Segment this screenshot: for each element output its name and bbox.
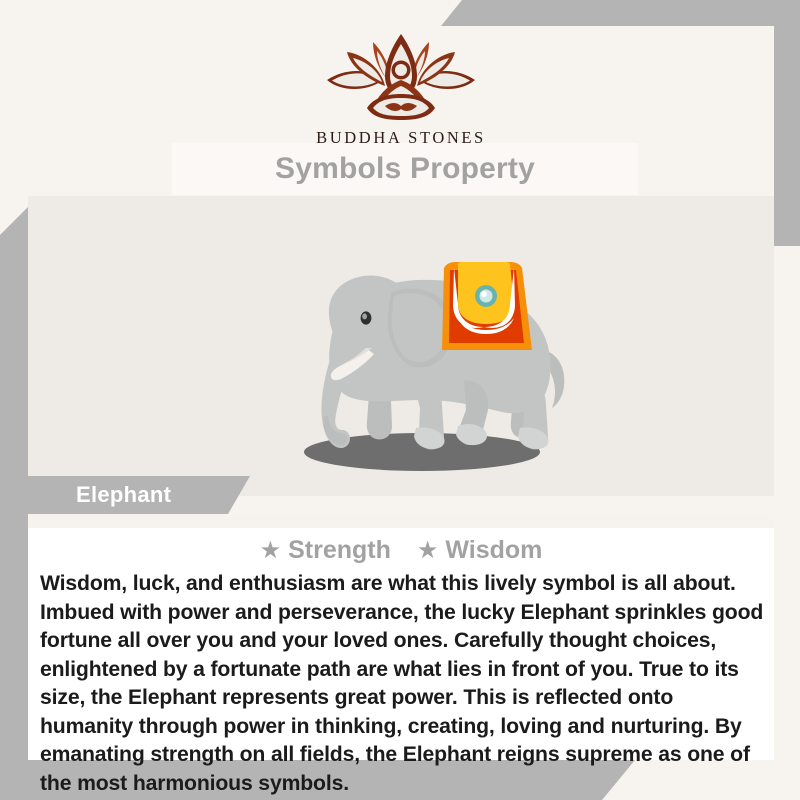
property-label: Wisdom — [445, 536, 542, 565]
hero-image-area — [28, 196, 774, 496]
property-strength: ★ Strength — [260, 536, 391, 565]
symbol-label: Elephant — [76, 482, 171, 508]
property-label: Strength — [288, 536, 391, 565]
panel-top-divider — [28, 514, 774, 528]
description-text: Wisdom, luck, and enthusiasm are what th… — [40, 570, 768, 798]
property-list: ★ Strength ★ Wisdom — [28, 536, 774, 565]
description-panel: ★ Strength ★ Wisdom Wisdom, luck, and en… — [28, 514, 774, 760]
content-card: BUDDHA STONES Symbols Property — [28, 26, 774, 760]
symbol-label-ribbon: Elephant — [28, 476, 250, 514]
property-wisdom: ★ Wisdom — [417, 536, 543, 565]
infographic-page: BUDDHA STONES Symbols Property — [0, 0, 800, 800]
brand-logo: BUDDHA STONES — [28, 26, 774, 146]
page-title: Symbols Property — [275, 152, 535, 186]
title-banner: Symbols Property — [172, 143, 638, 195]
frame-accent-right — [774, 0, 800, 246]
star-icon: ★ — [260, 539, 282, 563]
star-icon: ★ — [417, 539, 439, 563]
lotus-meditation-icon — [311, 30, 491, 127]
walking-elephant-illustration — [214, 230, 594, 480]
